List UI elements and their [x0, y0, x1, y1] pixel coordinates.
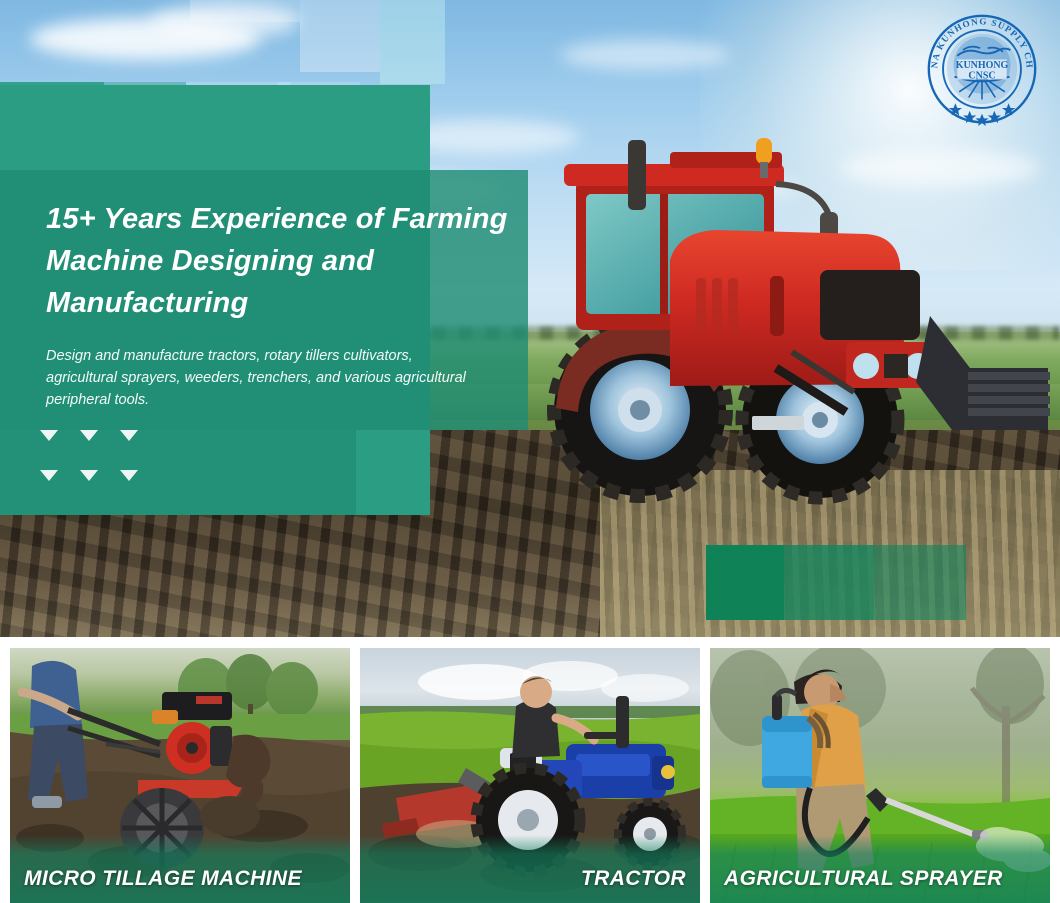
red-tractor-illustration — [520, 120, 1060, 520]
chevron-down-icon — [40, 430, 58, 441]
card-label: AGRICULTURAL SPRAYER — [710, 867, 1050, 891]
chevron-down-icon — [120, 430, 138, 441]
accent-block — [784, 545, 874, 620]
logo-line-1: KUNHONG — [956, 60, 1009, 71]
product-card-micro-tillage[interactable]: MICRO TILLAGE MACHINE — [10, 648, 350, 903]
hero-section: 15+ Years Experience of Farming Machine … — [0, 0, 1060, 637]
product-card-row: MICRO TILLAGE MACHINE — [0, 648, 1060, 903]
logo-line-2: CNSC — [968, 71, 995, 82]
hero-subcopy: Design and manufacture tractors, rotary … — [46, 345, 466, 411]
mosaic-tile — [380, 0, 445, 84]
company-logo: CHINA KUNHONG SUPPLY CHAIN KUNHONG CNSC — [925, 12, 1039, 126]
hero-headline: 15+ Years Experience of Farming Machine … — [46, 198, 516, 324]
cloud — [560, 40, 730, 70]
product-card-tractor[interactable]: TRACTOR — [360, 648, 700, 903]
chevron-down-icon — [40, 470, 58, 481]
chevron-down-icon — [80, 470, 98, 481]
card-label: TRACTOR — [360, 867, 700, 891]
card-label: MICRO TILLAGE MACHINE — [10, 867, 350, 891]
chevron-decoration — [40, 430, 170, 500]
mosaic-tile — [300, 0, 380, 72]
mosaic-tile — [190, 0, 300, 22]
chevron-down-icon — [80, 430, 98, 441]
accent-block — [874, 545, 966, 620]
accent-block — [706, 545, 784, 620]
promo-banner: 15+ Years Experience of Farming Machine … — [0, 0, 1060, 903]
product-card-sprayer[interactable]: AGRICULTURAL SPRAYER — [710, 648, 1050, 903]
chevron-down-icon — [120, 470, 138, 481]
